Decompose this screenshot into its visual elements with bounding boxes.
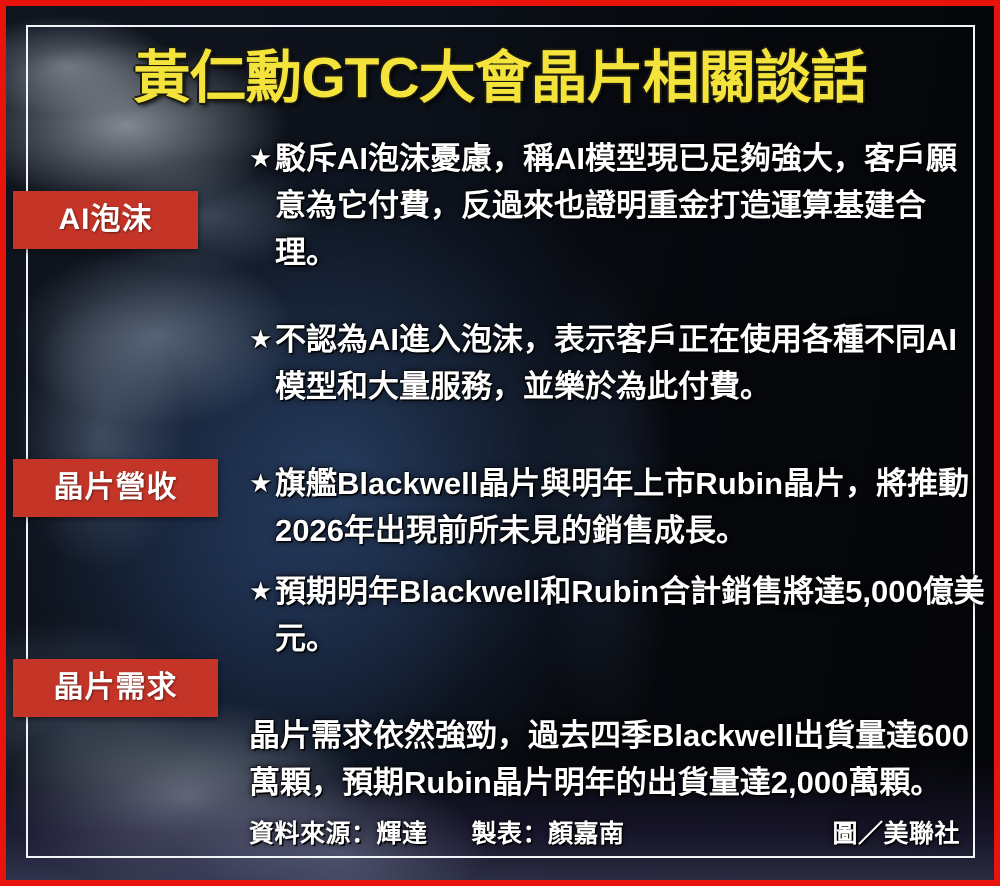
section-badge-ai-bubble: AI泡沫 bbox=[13, 191, 198, 249]
bullet-chip-revenue-1: ★ 旗艦Blackwell晶片與明年上市Rubin晶片，將推動2026年出現前所… bbox=[249, 460, 985, 554]
data-source-label: 資料來源：輝達 bbox=[249, 814, 428, 850]
star-bullet-icon: ★ bbox=[249, 316, 272, 363]
star-bullet-icon: ★ bbox=[249, 135, 272, 182]
footer-credits: 資料來源：輝達 製表：顏嘉南 圖／美聯社 bbox=[249, 814, 960, 850]
bullet-ai-bubble-2: ★ 不認為AI進入泡沫，表示客戶正在使用各種不同AI模型和大量服務，並樂於為此付… bbox=[249, 316, 985, 410]
spacer bbox=[249, 662, 985, 712]
body-text-column: ★ 駁斥AI泡沫憂慮，稱AI模型現已足夠強大，客戶願意為它付費，反過來也證明重金… bbox=[249, 135, 985, 806]
paragraph-text: 晶片需求依然強勁，過去四季Blackwell出貨量達600萬顆，預期Rubin晶… bbox=[249, 718, 969, 800]
chart-author-label: 製表：顏嘉南 bbox=[472, 814, 625, 850]
spacer bbox=[249, 276, 985, 316]
paragraph-chip-demand: 晶片需求依然強勁，過去四季Blackwell出貨量達600萬顆，預期Rubin晶… bbox=[249, 712, 985, 806]
bullet-ai-bubble-1: ★ 駁斥AI泡沫憂慮，稱AI模型現已足夠強大，客戶願意為它付費，反過來也證明重金… bbox=[249, 135, 985, 276]
infographic-content: 黃仁勳GTC大會晶片相關談話 AI泡沫 晶片營收 晶片需求 ★ 駁斥AI泡沫憂慮… bbox=[6, 6, 994, 880]
image-credit-label: 圖／美聯社 bbox=[832, 814, 960, 850]
section-badge-chip-revenue: 晶片營收 bbox=[13, 459, 218, 517]
bullet-chip-revenue-2: ★ 預期明年Blackwell和Rubin合計銷售將達5,000億美元。 bbox=[249, 568, 985, 662]
section-badge-chip-demand: 晶片需求 bbox=[13, 659, 218, 717]
page-title: 黃仁勳GTC大會晶片相關談話 bbox=[6, 50, 994, 107]
bullet-text: 預期明年Blackwell和Rubin合計銷售將達5,000億美元。 bbox=[275, 574, 985, 656]
star-bullet-icon: ★ bbox=[249, 460, 272, 507]
infographic-frame: 黃仁勳GTC大會晶片相關談話 AI泡沫 晶片營收 晶片需求 ★ 駁斥AI泡沫憂慮… bbox=[0, 0, 1000, 886]
bullet-text: 不認為AI進入泡沫，表示客戶正在使用各種不同AI模型和大量服務，並樂於為此付費。 bbox=[275, 322, 957, 404]
spacer bbox=[249, 554, 985, 568]
bullet-text: 駁斥AI泡沫憂慮，稱AI模型現已足夠強大，客戶願意為它付費，反過來也證明重金打造… bbox=[275, 141, 957, 270]
spacer bbox=[249, 410, 985, 460]
bullet-text: 旗艦Blackwell晶片與明年上市Rubin晶片，將推動2026年出現前所未見… bbox=[275, 466, 969, 548]
star-bullet-icon: ★ bbox=[249, 568, 272, 615]
